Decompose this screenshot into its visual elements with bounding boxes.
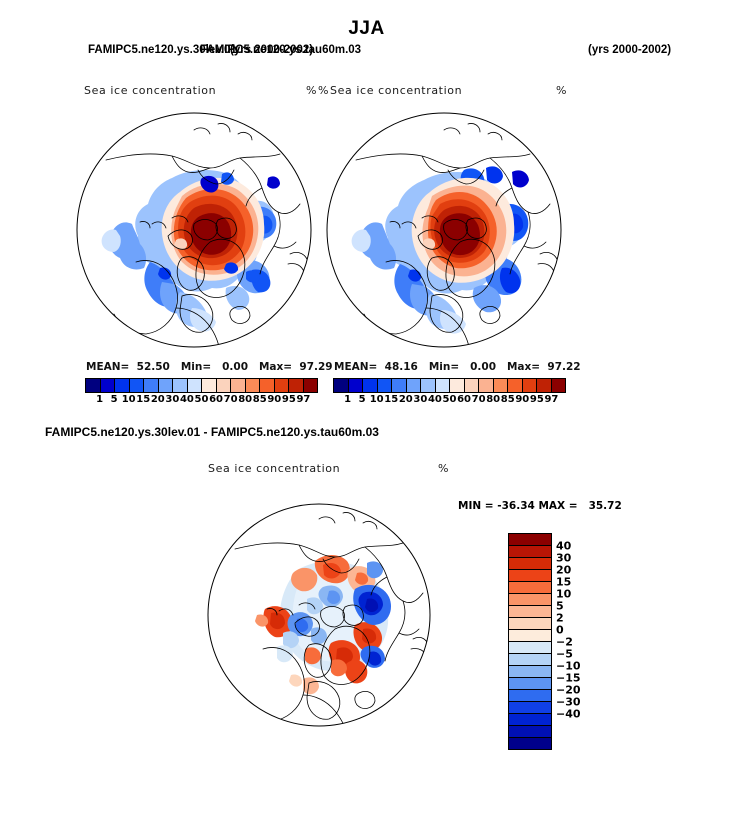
colorbar-cell bbox=[450, 379, 465, 392]
colorbar-tick-label: 5 bbox=[111, 394, 118, 405]
colorbar-cell bbox=[465, 379, 480, 392]
map-top-right bbox=[326, 112, 562, 348]
colorbar-tick-label: 15 bbox=[384, 394, 398, 405]
colorbar-cell bbox=[421, 379, 436, 392]
colorbar-cell bbox=[407, 379, 422, 392]
case-a-years-label: (yrs 2000-2002) bbox=[230, 44, 313, 56]
colorbar-cell bbox=[509, 678, 551, 690]
colorbar-tick-label: 85 bbox=[253, 394, 267, 405]
colorbar-cell bbox=[509, 570, 551, 582]
colorbar-cell bbox=[509, 666, 551, 678]
panel-top-right-units-left: % bbox=[318, 84, 329, 97]
map-difference bbox=[207, 503, 431, 727]
colorbar-cell bbox=[159, 379, 174, 392]
stats-top-left: MEAN= 52.50 Min= 0.00 Max= 97.29 bbox=[86, 361, 333, 373]
colorbar-cell bbox=[231, 379, 246, 392]
colorbar-top-left-labels: 1510152030405060708085909597 bbox=[85, 393, 318, 407]
stats-top-right: MEAN= 48.16 Min= 0.00 Max= 97.22 bbox=[334, 361, 581, 373]
colorbar-cell bbox=[509, 546, 551, 558]
colorbar-cell bbox=[217, 379, 232, 392]
colorbar-cell bbox=[509, 594, 551, 606]
colorbar-cell bbox=[130, 379, 145, 392]
colorbar-cell bbox=[144, 379, 159, 392]
colorbar-tick-label: 40 bbox=[428, 394, 442, 405]
colorbar-top-left bbox=[85, 378, 318, 393]
colorbar-cell bbox=[494, 379, 509, 392]
colorbar-cell bbox=[289, 379, 304, 392]
colorbar-cell bbox=[349, 379, 364, 392]
colorbar-cell bbox=[537, 379, 552, 392]
colorbar-tick-label: 5 bbox=[359, 394, 366, 405]
colorbar-cell bbox=[508, 379, 523, 392]
colorbar-cell bbox=[509, 606, 551, 618]
colorbar-tick-label: −40 bbox=[556, 708, 581, 721]
colorbar-tick-label: 90 bbox=[267, 394, 281, 405]
colorbar-cell bbox=[260, 379, 275, 392]
colorbar-tick-label: 95 bbox=[282, 394, 296, 405]
colorbar-cell bbox=[509, 558, 551, 570]
colorbar-cell bbox=[552, 379, 566, 392]
case-years-label: (yrs 2000-2002) bbox=[588, 44, 671, 56]
colorbar-cell bbox=[509, 618, 551, 630]
colorbar-top-right-labels: 1510152030405060708085909597 bbox=[333, 393, 566, 407]
colorbar-tick-label: 50 bbox=[195, 394, 209, 405]
colorbar-cell bbox=[363, 379, 378, 392]
colorbar-tick-label: 1 bbox=[344, 394, 351, 405]
colorbar-cell bbox=[509, 702, 551, 714]
colorbar-tick-label: 80 bbox=[238, 394, 252, 405]
colorbar-cell bbox=[334, 379, 349, 392]
colorbar-cell bbox=[509, 630, 551, 642]
colorbar-tick-label: 20 bbox=[151, 394, 165, 405]
colorbar-difference-labels: 4030201510520−2−5−10−15−20−30−40 bbox=[556, 533, 616, 751]
colorbar-cell bbox=[275, 379, 290, 392]
panel-difference-units: % bbox=[438, 462, 449, 475]
colorbar-tick-label: 70 bbox=[472, 394, 486, 405]
colorbar-cell bbox=[246, 379, 261, 392]
colorbar-tick-label: 30 bbox=[413, 394, 427, 405]
colorbar-cell bbox=[86, 379, 101, 392]
colorbar-cell bbox=[509, 642, 551, 654]
colorbar-cell bbox=[392, 379, 407, 392]
colorbar-cell bbox=[188, 379, 203, 392]
panel-top-left-variable: Sea ice concentration bbox=[84, 84, 216, 97]
colorbar-tick-label: 60 bbox=[457, 394, 471, 405]
page-title: JJA bbox=[0, 18, 733, 40]
colorbar-cell bbox=[509, 690, 551, 702]
panel-top-right-variable: Sea ice concentration bbox=[330, 84, 462, 97]
difference-minmax: MIN = -36.34 MAX = 35.72 bbox=[458, 500, 622, 512]
panel-top-left-units: % bbox=[306, 84, 317, 97]
colorbar-tick-label: 30 bbox=[165, 394, 179, 405]
colorbar-cell bbox=[509, 534, 551, 546]
colorbar-tick-label: 20 bbox=[399, 394, 413, 405]
colorbar-tick-label: 97 bbox=[544, 394, 558, 405]
colorbar-tick-label: 10 bbox=[370, 394, 384, 405]
colorbar-cell bbox=[509, 738, 551, 749]
colorbar-difference bbox=[508, 533, 552, 750]
colorbar-tick-label: 15 bbox=[136, 394, 150, 405]
colorbar-tick-label: 10 bbox=[122, 394, 136, 405]
colorbar-tick-label: 85 bbox=[501, 394, 515, 405]
colorbar-tick-label: 1 bbox=[96, 394, 103, 405]
colorbar-tick-label: 97 bbox=[296, 394, 310, 405]
colorbar-tick-label: 50 bbox=[443, 394, 457, 405]
colorbar-tick-label: 95 bbox=[530, 394, 544, 405]
map-top-left bbox=[76, 112, 312, 348]
panel-difference-variable: Sea ice concentration bbox=[208, 462, 340, 475]
colorbar-cell bbox=[101, 379, 116, 392]
colorbar-cell bbox=[523, 379, 538, 392]
colorbar-cell bbox=[173, 379, 188, 392]
colorbar-tick-label: 90 bbox=[515, 394, 529, 405]
colorbar-cell bbox=[436, 379, 451, 392]
colorbar-cell bbox=[202, 379, 217, 392]
colorbar-tick-label: 70 bbox=[224, 394, 238, 405]
colorbar-cell bbox=[509, 654, 551, 666]
colorbar-cell bbox=[115, 379, 130, 392]
panel-top-right-units: % bbox=[556, 84, 567, 97]
colorbar-top-right bbox=[333, 378, 566, 393]
colorbar-cell bbox=[304, 379, 318, 392]
colorbar-cell bbox=[479, 379, 494, 392]
colorbar-tick-label: 60 bbox=[209, 394, 223, 405]
difference-title: FAMIPC5.ne120.ys.30lev.01 - FAMIPC5.ne12… bbox=[45, 425, 379, 439]
colorbar-cell bbox=[509, 714, 551, 726]
colorbar-cell bbox=[378, 379, 393, 392]
colorbar-cell bbox=[509, 726, 551, 738]
colorbar-tick-label: 80 bbox=[486, 394, 500, 405]
colorbar-tick-label: 40 bbox=[180, 394, 194, 405]
colorbar-cell bbox=[509, 582, 551, 594]
